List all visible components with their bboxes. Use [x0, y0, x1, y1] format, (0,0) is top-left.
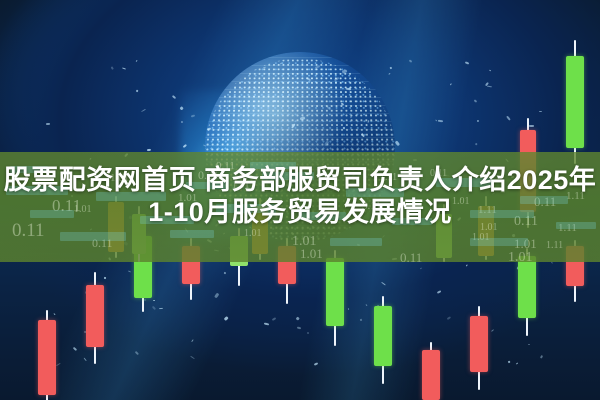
floating-number: 1.01: [244, 228, 262, 239]
banner-title: 股票配资网首页 商务部服贸司负责人介绍2025年 1-10月服务贸易发展情况: [0, 165, 600, 229]
data-bar-glyph: [470, 238, 528, 246]
candlestick-body: [566, 56, 584, 148]
candlestick-body: [38, 320, 56, 395]
floating-number: 1.01: [508, 250, 533, 262]
title-line-2: 1-10月服务贸易发展情况: [0, 197, 600, 229]
data-bar-glyph: [330, 238, 382, 246]
candlestick-body: [374, 306, 392, 366]
floating-number: 1.11: [546, 240, 563, 251]
floating-number: 0.11: [400, 250, 422, 262]
candlestick-body: [86, 285, 104, 347]
data-bar-glyph: [170, 230, 214, 238]
candlestick-body: [326, 258, 344, 326]
data-bar-glyph: [60, 232, 126, 241]
banner-image: 0.110.111.011.011.010.110.211.011.011.01…: [0, 0, 600, 400]
title-line-1: 股票配资网首页 商务部服贸司负责人介绍2025年: [0, 165, 600, 197]
floating-number: 1.01: [300, 246, 323, 262]
